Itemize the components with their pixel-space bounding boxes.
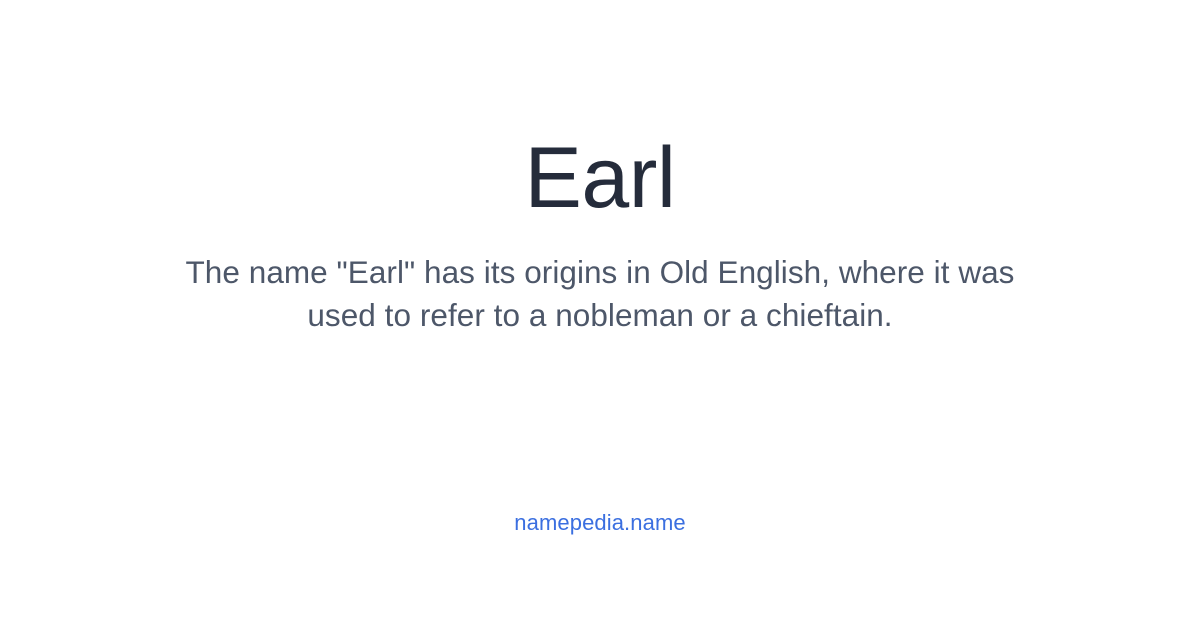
- name-preview-card: Earl The name "Earl" has its origins in …: [0, 0, 1200, 630]
- card-footer: namepedia.name: [0, 508, 1200, 538]
- site-link[interactable]: namepedia.name: [514, 508, 685, 538]
- page-title: Earl: [525, 133, 676, 223]
- name-description: The name "Earl" has its origins in Old E…: [150, 251, 1050, 337]
- card-main-content: Earl The name "Earl" has its origins in …: [0, 0, 1200, 470]
